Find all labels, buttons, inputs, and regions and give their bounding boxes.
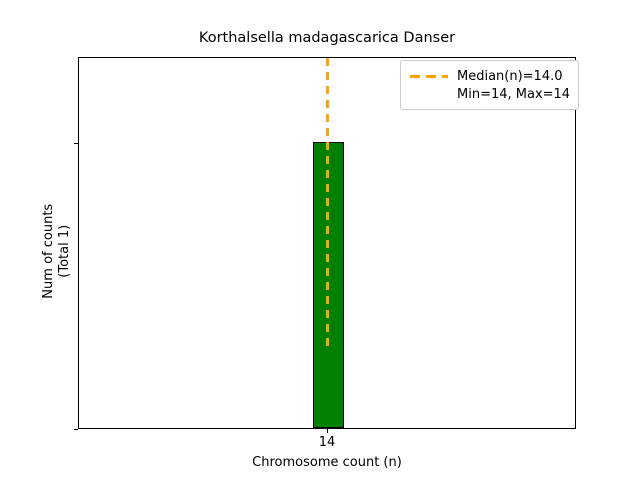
plot-area <box>78 57 576 429</box>
page-title: Korthalsella madagascarica Danser <box>78 30 576 46</box>
xtick-mark-14 <box>327 429 328 433</box>
legend-blank-sample <box>409 85 449 103</box>
ytick-mark-1 <box>74 143 78 144</box>
legend-label-median: Median(n)=14.0 <box>457 69 563 84</box>
ytick-mark-0 <box>74 429 78 430</box>
legend[interactable]: Median(n)=14.0 Min=14, Max=14 <box>400 60 579 110</box>
figure-canvas: Korthalsella madagascarica Danser 0 1 14… <box>0 0 640 480</box>
xtick-label-14: 14 <box>297 436 357 449</box>
legend-item-median: Median(n)=14.0 <box>409 67 570 85</box>
legend-label-minmax: Min=14, Max=14 <box>457 87 570 102</box>
median-line <box>326 58 329 348</box>
x-axis-label: Chromosome count (n) <box>78 455 576 470</box>
dashed-line-icon <box>409 67 449 85</box>
legend-item-minmax: Min=14, Max=14 <box>409 85 570 103</box>
y-axis-label: Num of counts (Total 1) <box>41 65 74 437</box>
